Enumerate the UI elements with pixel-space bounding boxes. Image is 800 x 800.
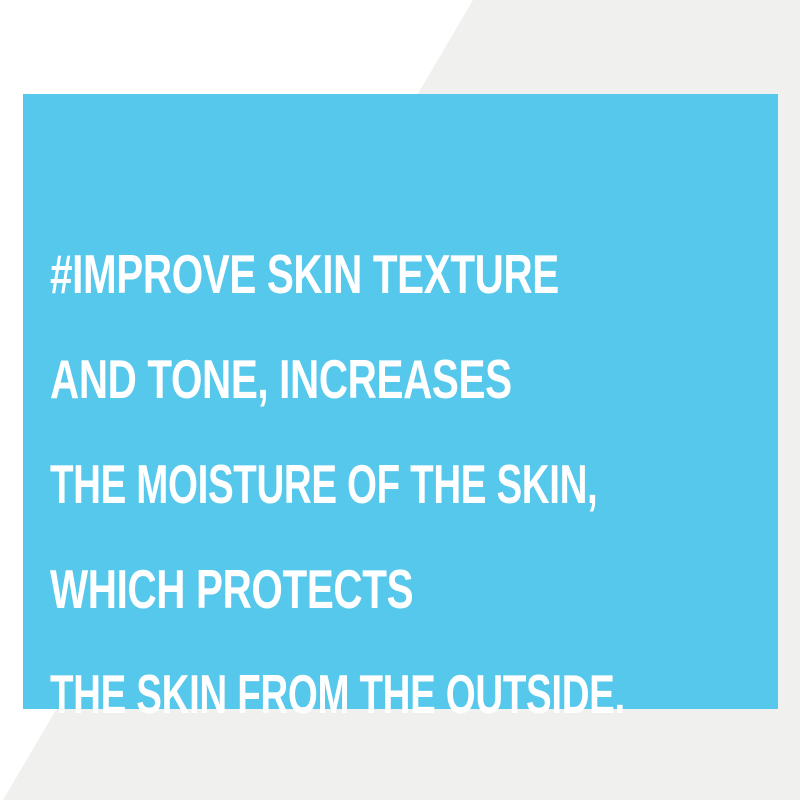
poster-canvas: #IMPROVE SKIN TEXTURE AND TONE, INCREASE… [0,0,800,800]
blue-callout-panel: #IMPROVE SKIN TEXTURE AND TONE, INCREASE… [23,94,778,709]
headline-line-1: #IMPROVE SKIN TEXTURE [50,246,559,302]
headline-line-5: THE SKIN FROM THE OUTSIDE. [50,666,625,722]
headline-line-4: WHICH PROTECTS [50,561,413,617]
headline-line-2: AND TONE, INCREASES [50,351,512,407]
headline-line-3: THE MOISTURE OF THE SKIN, [50,456,597,512]
headline-text-stack: #IMPROVE SKIN TEXTURE AND TONE, INCREASE… [50,94,800,709]
